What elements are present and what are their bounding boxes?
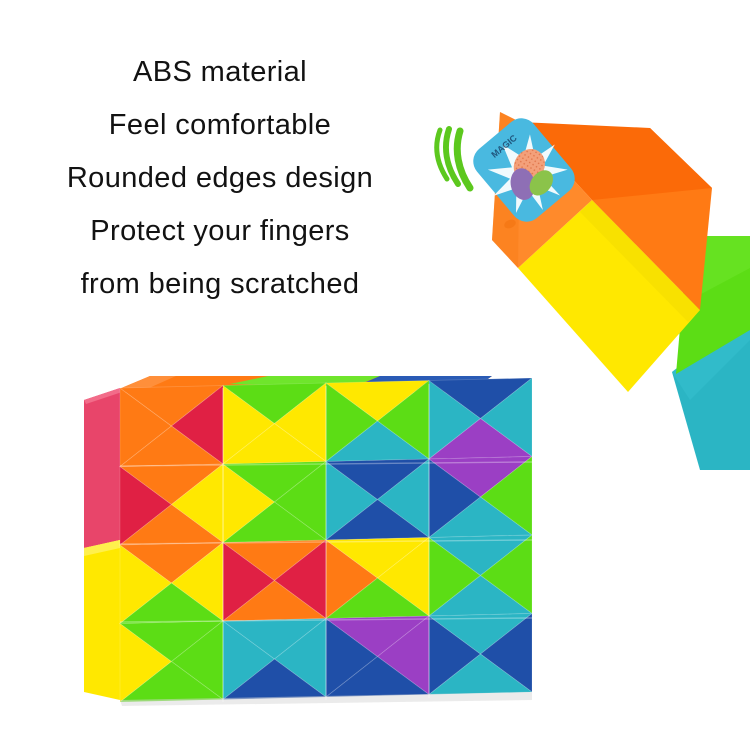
- face-triangle: [429, 381, 481, 460]
- copy-line-5: from being scratched: [0, 258, 440, 311]
- sticker-motif-icon: [490, 137, 567, 214]
- dimple-icon: [552, 168, 569, 183]
- face-triangle: [429, 538, 481, 617]
- face-triangle: [120, 388, 172, 467]
- snake-segment-yellow: [518, 200, 700, 392]
- face-triangle: [275, 462, 327, 541]
- orange-endcap-shade: [492, 112, 520, 268]
- face-triangle: [120, 543, 223, 584]
- extended-snake-arm: MAGIC: [437, 110, 750, 470]
- left-cap-yellow-side: [84, 540, 120, 700]
- face-triangle: [429, 378, 532, 419]
- cyan-highlight: [672, 310, 750, 400]
- sticker-wordmark: MAGIC: [489, 132, 519, 159]
- face-triangle: [481, 378, 533, 457]
- face-triangle: [172, 621, 224, 700]
- face-triangle: [326, 500, 429, 541]
- motion-speed-lines: [437, 129, 470, 188]
- seam-h1: [120, 462, 532, 466]
- face-triangle: [172, 386, 224, 465]
- motif-green-leaf: [525, 166, 558, 200]
- face-triangle: [326, 421, 429, 462]
- face-triangle: [429, 459, 481, 538]
- face-triangle: [326, 381, 429, 422]
- face-triangle: [223, 540, 326, 581]
- face-triangle: [275, 540, 327, 619]
- face-triangle: [172, 543, 224, 622]
- snake-segment-cyan: [672, 310, 750, 470]
- copy-line-3: Rounded edges design: [0, 152, 440, 205]
- face-triangle: [378, 538, 430, 617]
- sticker-burst-icon: [472, 119, 582, 229]
- face-triangle: [481, 457, 533, 536]
- green-wedge-highlight: [688, 236, 750, 300]
- face-triangle: [120, 464, 223, 505]
- product-image-canvas: MAGIC: [0, 0, 750, 750]
- face-triangle: [120, 426, 223, 467]
- left-cap-red-side: [84, 388, 120, 548]
- block-face-triangles: [120, 378, 532, 702]
- snake-segment-orange: [520, 122, 712, 310]
- block-bottom-edge: [120, 692, 532, 706]
- marketing-copy: ABS material Feel comfortable Rounded ed…: [0, 46, 440, 311]
- snake-segment-orange-endcap: [492, 112, 592, 268]
- face-triangle: [429, 457, 532, 498]
- sticker-background: [467, 112, 582, 229]
- face-triangle: [120, 467, 172, 546]
- green-wedge-face: [676, 236, 750, 374]
- left-cap-yellow-top: [84, 540, 120, 556]
- face-triangle: [275, 383, 327, 462]
- cyan-face: [672, 310, 750, 470]
- face-triangle: [378, 459, 430, 538]
- seam-h2: [120, 540, 532, 544]
- motion-line-2: [446, 129, 458, 184]
- face-triangle: [429, 535, 532, 576]
- face-triangle: [223, 543, 275, 622]
- face-triangle: [481, 614, 533, 693]
- face-triangle: [223, 464, 275, 543]
- face-triangle: [223, 581, 326, 622]
- left-cap-red-top: [84, 388, 122, 404]
- orange-top-face: [520, 122, 712, 200]
- face-triangle: [429, 654, 532, 695]
- face-triangle: [120, 545, 172, 624]
- snake-segment-green-wedge: [676, 236, 750, 374]
- face-triangle: [326, 578, 429, 619]
- dimple-icon: [520, 121, 537, 136]
- seam-h3: [120, 618, 532, 622]
- face-triangle: [223, 424, 326, 465]
- face-triangle: [326, 462, 378, 541]
- face-triangle: [378, 616, 430, 695]
- face-triangle: [223, 462, 326, 503]
- top-band-blue: [352, 376, 492, 392]
- face-triangle: [120, 662, 223, 703]
- motif-dotted-leaf: [508, 143, 551, 188]
- face-triangle: [429, 616, 481, 695]
- face-triangle: [223, 621, 275, 700]
- face-triangle: [326, 619, 378, 698]
- block-left-cap: [84, 388, 122, 700]
- face-triangle: [120, 624, 172, 703]
- orange-right-face: [592, 128, 712, 310]
- top-band-orange-light: [112, 376, 176, 392]
- copy-line-1: ABS material: [0, 46, 440, 99]
- face-triangle: [429, 576, 532, 617]
- dimple-icon: [503, 218, 517, 230]
- face-triangle: [120, 505, 223, 546]
- face-triangle: [481, 535, 533, 614]
- folded-rainbow-snake-block: [84, 376, 532, 706]
- face-triangle: [223, 619, 326, 660]
- block-seam-lines: [120, 384, 532, 702]
- face-triangle: [326, 459, 429, 500]
- face-triangle: [223, 386, 275, 465]
- face-triangle: [120, 621, 223, 662]
- face-triangle: [120, 583, 223, 624]
- block-top-band: [112, 376, 492, 392]
- face-triangle: [326, 657, 429, 698]
- motion-line-1: [457, 131, 470, 188]
- face-triangle: [223, 502, 326, 543]
- copy-line-2: Feel comfortable: [0, 99, 440, 152]
- face-triangle: [429, 614, 532, 655]
- face-triangle: [223, 659, 326, 700]
- orange-endcap-face: [492, 112, 592, 268]
- face-triangle: [275, 619, 327, 698]
- face-triangle: [326, 540, 378, 619]
- face-triangle: [223, 383, 326, 424]
- yellow-edge-shade: [580, 200, 700, 322]
- face-triangle: [172, 464, 224, 543]
- top-band-orange: [112, 376, 492, 392]
- motif-purple-leaf: [508, 166, 538, 202]
- face-triangle: [120, 386, 223, 427]
- face-triangle: [429, 497, 532, 538]
- brand-sticker: MAGIC: [464, 110, 583, 230]
- face-triangle: [326, 538, 429, 579]
- face-triangle: [326, 616, 429, 657]
- face-triangle: [429, 419, 532, 460]
- face-triangle: [378, 381, 430, 460]
- top-band-green: [230, 376, 380, 388]
- yellow-face: [518, 200, 700, 392]
- face-triangle: [326, 383, 378, 462]
- copy-line-4: Protect your fingers: [0, 205, 440, 258]
